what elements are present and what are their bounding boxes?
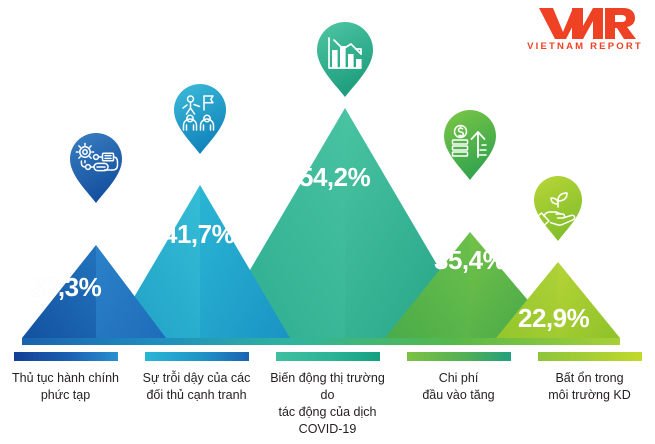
value-label-3: 54,2%: [299, 162, 370, 193]
legend-label-5: Bất ổn trong môi trường KD: [548, 370, 631, 404]
legend-label-1: Thủ tục hành chính phức tạp: [12, 370, 119, 404]
legend-label-4: Chi phí đầu vào tăng: [422, 370, 494, 404]
map-pin-1: [70, 133, 122, 203]
value-label-4: 35,4%: [434, 245, 505, 276]
legend-swatch-5: [538, 352, 642, 361]
baseline-strip: [22, 338, 620, 345]
map-pin-4: [444, 110, 496, 180]
legend-item-4: Chi phí đầu vào tăng: [393, 352, 524, 404]
legend-swatch-3: [276, 352, 380, 361]
legend-swatch-4: [407, 352, 511, 361]
legend: Thủ tục hành chính phức tạp Sự trỗi dậy …: [0, 352, 655, 444]
value-label-2: 41,7%: [163, 219, 234, 250]
legend-label-3: Biến động thị trường do tác động của dịc…: [266, 370, 389, 438]
map-pin-5: [534, 176, 582, 241]
legend-item-5: Bất ổn trong môi trường KD: [524, 352, 655, 404]
legend-item-3: Biến động thị trường do tác động của dịc…: [262, 352, 393, 438]
legend-swatch-1: [14, 352, 118, 361]
legend-item-2: Sự trỗi dậy của các đối thủ cạnh tranh: [131, 352, 262, 404]
legend-swatch-2: [145, 352, 249, 361]
infographic-canvas: VIETNAM REPORT: [0, 0, 655, 444]
legend-label-2: Sự trỗi dậy của các đối thủ cạnh tranh: [143, 370, 251, 404]
legend-item-1: Thủ tục hành chính phức tạp: [0, 352, 131, 404]
map-pin-2: [174, 84, 226, 154]
value-label-5: 22,9%: [518, 303, 589, 334]
value-label-1: 33,3%: [30, 272, 101, 303]
map-pin-3: [317, 22, 373, 97]
